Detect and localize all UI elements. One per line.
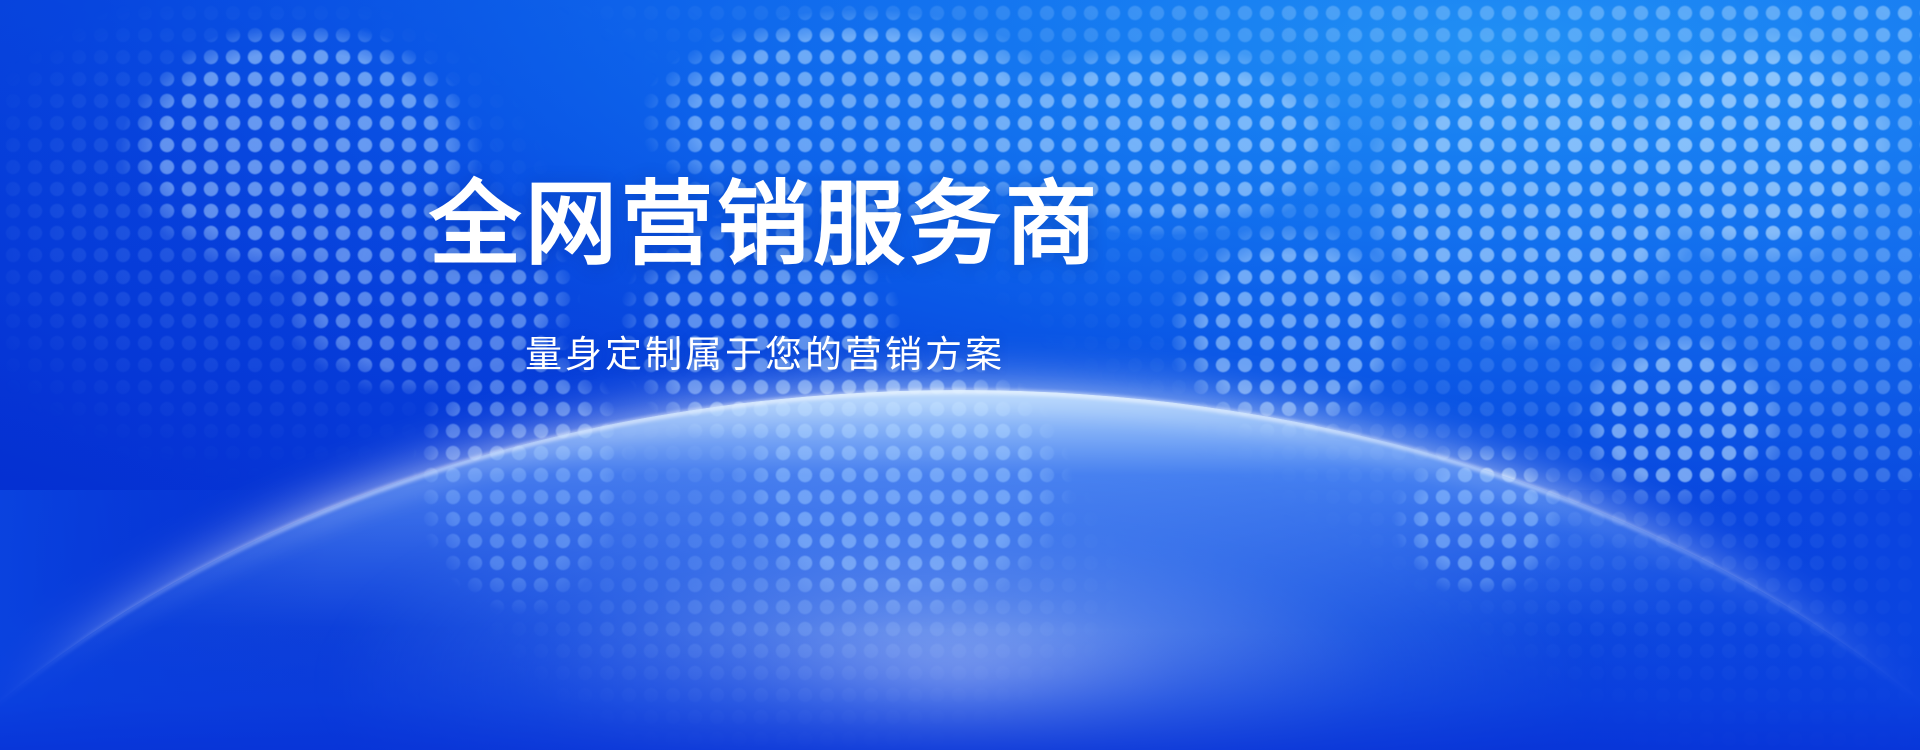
- banner-content: 全网营销服务商 量身定制属于您的营销方案: [0, 0, 1530, 750]
- hero-banner: 全网营销服务商 量身定制属于您的营销方案: [0, 0, 1920, 750]
- banner-subtitle: 量身定制属于您的营销方案: [525, 331, 1005, 379]
- banner-title: 全网营销服务商: [429, 176, 1101, 275]
